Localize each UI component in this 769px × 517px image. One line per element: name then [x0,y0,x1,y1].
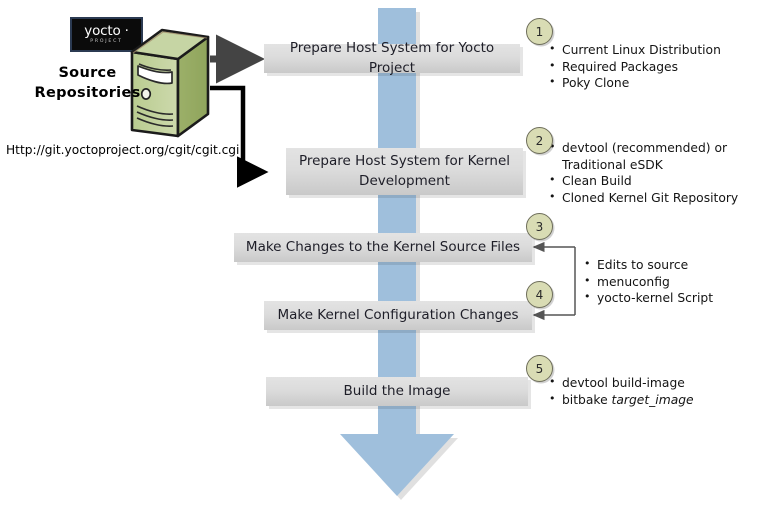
process-box-step-4[interactable]: Make Kernel Configuration Changes [264,301,532,330]
source-repositories-label: Source Repositories [30,63,145,103]
process-box-step-4-label: Make Kernel Configuration Changes [277,306,518,326]
step-badge-5-number: 5 [536,362,544,376]
step-badge-2-number: 2 [536,134,544,148]
main-flow-arrowhead-icon [340,434,454,496]
note-item: Current Linux Distribution [549,42,759,59]
note-item: Cloned Kernel Git Repository [549,190,764,207]
note-item: Clean Build [549,173,764,190]
note-item: yocto-kernel Script [584,290,764,307]
process-box-step-5-label: Build the Image [344,382,451,402]
step-badge-5: 5 [526,355,553,382]
note-item: Edits to source [584,257,764,274]
step-badge-4-number: 4 [536,288,544,302]
process-box-step-2-label: Prepare Host System for Kernel Developme… [292,152,517,191]
note-item: Required Packages [549,59,759,76]
diagram-canvas: yocto · PROJECT [0,0,769,517]
step-badge-1: 1 [526,18,553,45]
note-item: Poky Clone [549,75,759,92]
source-label-line-1: Source [30,63,145,83]
notes-step-2: devtool (recommended) or Traditional eSD… [549,140,764,206]
note-item: menuconfig [584,274,764,291]
step-badge-1-number: 1 [536,25,544,39]
notes-steps-3-4: Edits to source menuconfig yocto-kernel … [584,257,764,307]
process-box-step-1[interactable]: Prepare Host System for Yocto Project [264,44,520,73]
notes-step-5: devtool build-image bitbake target_image [549,375,754,408]
note-item: bitbake target_image [549,392,754,409]
note-item: devtool (recommended) or Traditional eSD… [549,140,764,173]
step-badge-4: 4 [526,281,553,308]
process-box-step-3-label: Make Changes to the Kernel Source Files [246,238,520,258]
step-badge-2: 2 [526,127,553,154]
process-box-step-2[interactable]: Prepare Host System for Kernel Developme… [286,148,523,195]
process-box-step-5[interactable]: Build the Image [266,377,528,406]
notes-step-1: Current Linux Distribution Required Pack… [549,42,759,92]
source-label-line-2: Repositories [30,83,145,103]
logo-subtext: PROJECT [90,39,122,44]
note-5-bitbake-cmd: bitbake [562,393,612,407]
source-repositories-url: Http://git.yoctoproject.org/cgit/cgit.cg… [6,143,239,157]
note-item: devtool build-image [549,375,754,392]
process-box-step-3[interactable]: Make Changes to the Kernel Source Files [234,233,532,262]
step-badge-3: 3 [526,213,553,240]
note-5-target-image: target_image [612,393,694,407]
logo-wordmark: yocto · [84,25,128,38]
step-badge-3-number: 3 [536,220,544,234]
process-box-step-1-label: Prepare Host System for Yocto Project [270,39,514,78]
